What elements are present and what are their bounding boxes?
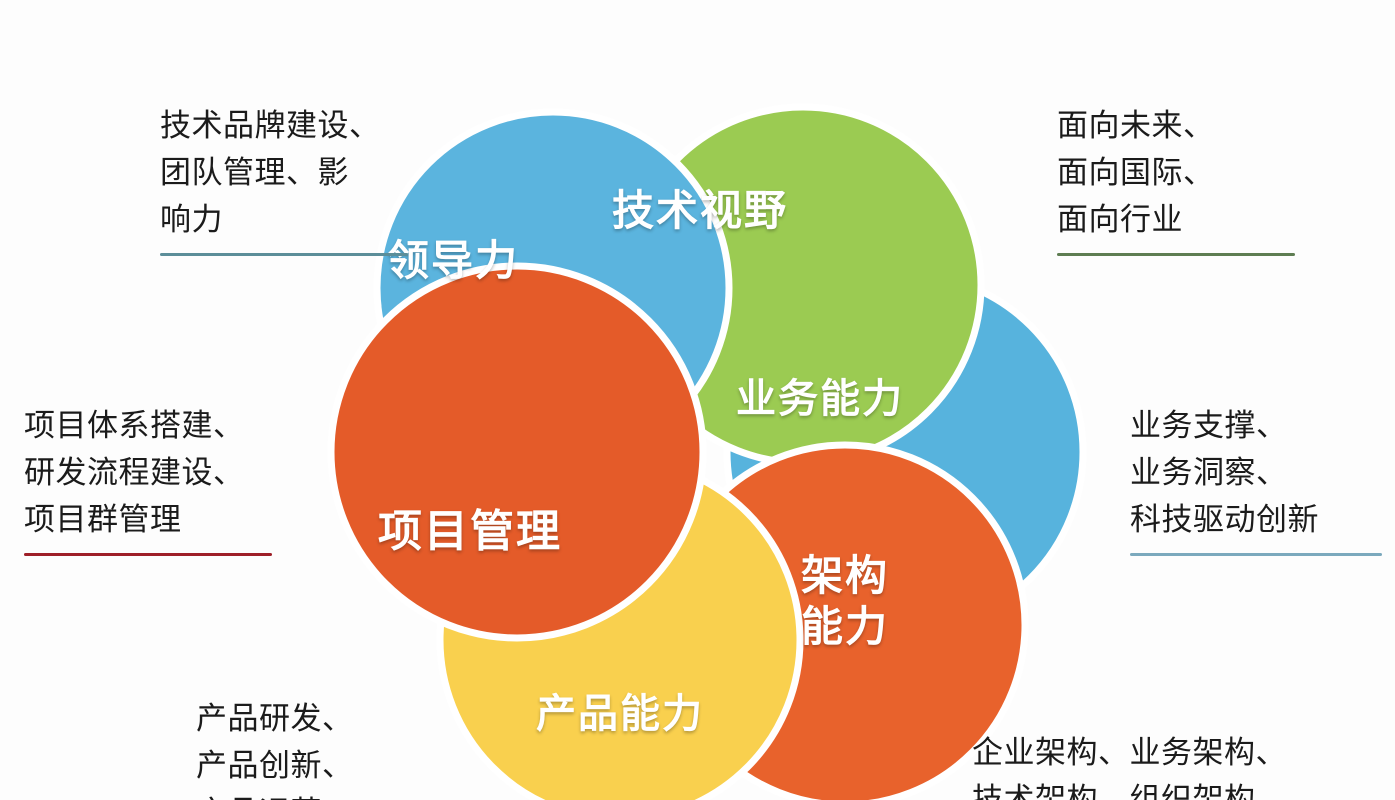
diagram-canvas: 领导力技术视野业务能力架构 能力产品能力项目管理 技术品牌建设、 团队管理、影 … (0, 0, 1395, 800)
petal-project-management[interactable] (331, 266, 703, 638)
note-product-capability-text: 产品研发、 产品创新、 产品运营 (196, 701, 354, 800)
note-project-management-text: 项目体系搭建、 研发流程建设、 项目群管理 (24, 408, 245, 537)
note-project-management-rule (24, 553, 272, 556)
note-architecture-capability-text: 企业架构、业务架构、 技术架构、组织架构 (972, 735, 1287, 800)
note-tech-vision-text: 面向未来、 面向国际、 面向行业 (1057, 108, 1215, 237)
note-business-capability: 业务支撑、 业务洞察、 科技驱动创新 (1130, 355, 1392, 604)
note-leadership-text: 技术品牌建设、 团队管理、影 响力 (160, 108, 381, 237)
note-tech-vision: 面向未来、 面向国际、 面向行业 (1057, 55, 1305, 304)
note-product-capability: 产品研发、 产品创新、 产品运营 (196, 648, 416, 800)
note-business-capability-rule (1130, 553, 1382, 556)
petal-group (331, 107, 1083, 800)
note-leadership-rule (160, 253, 408, 256)
note-tech-vision-rule (1057, 253, 1295, 256)
note-leadership: 技术品牌建设、 团队管理、影 响力 (160, 55, 410, 304)
note-business-capability-text: 业务支撑、 业务洞察、 科技驱动创新 (1130, 408, 1319, 537)
note-project-management: 项目体系搭建、 研发流程建设、 项目群管理 (24, 355, 292, 604)
note-architecture-capability: 企业架构、业务架构、 技术架构、组织架构 (972, 682, 1395, 800)
